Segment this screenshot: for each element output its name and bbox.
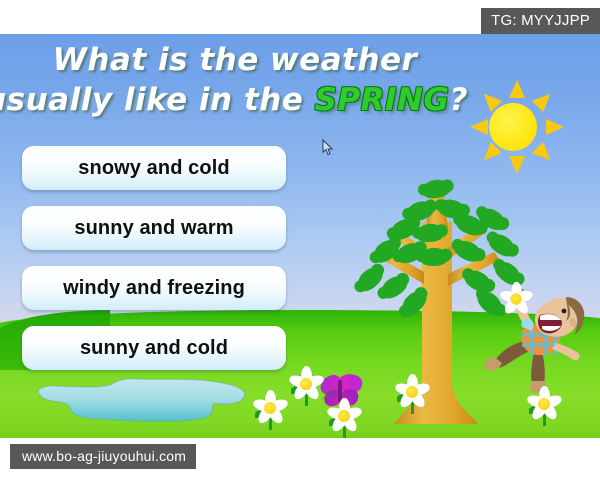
mouse-cursor — [322, 139, 334, 156]
daisy-icon — [326, 398, 362, 438]
answer-option-2[interactable]: sunny and warm — [22, 206, 286, 250]
daisy-icon — [288, 366, 324, 414]
answer-option-1[interactable]: snowy and cold — [22, 146, 286, 190]
running-boy-icon — [482, 289, 590, 395]
answer-option-4-label: sunny and cold — [80, 337, 228, 360]
tree-leaf — [420, 248, 449, 267]
daisy-icon — [526, 386, 562, 434]
answer-option-2-label: sunny and warm — [74, 217, 233, 240]
slide-screenshot: What is the weather usually like in the … — [0, 0, 600, 480]
answer-option-1-label: snowy and cold — [78, 157, 229, 180]
answer-list: snowy and cold sunny and warm windy and … — [22, 146, 286, 386]
tg-badge: TG: MYYJJPP — [481, 8, 600, 34]
answer-option-3-label: windy and freezing — [63, 277, 245, 300]
sun-icon — [464, 78, 562, 176]
answer-option-3[interactable]: windy and freezing — [22, 266, 286, 310]
daisy-icon — [394, 374, 430, 422]
answer-option-4[interactable]: sunny and cold — [22, 326, 286, 370]
slide-scene: What is the weather usually like in the … — [0, 34, 600, 438]
daisy-icon — [252, 390, 288, 438]
watermark-url: www.bo-ag-jiuyouhui.com — [10, 444, 196, 469]
daisy-icon — [499, 282, 533, 316]
